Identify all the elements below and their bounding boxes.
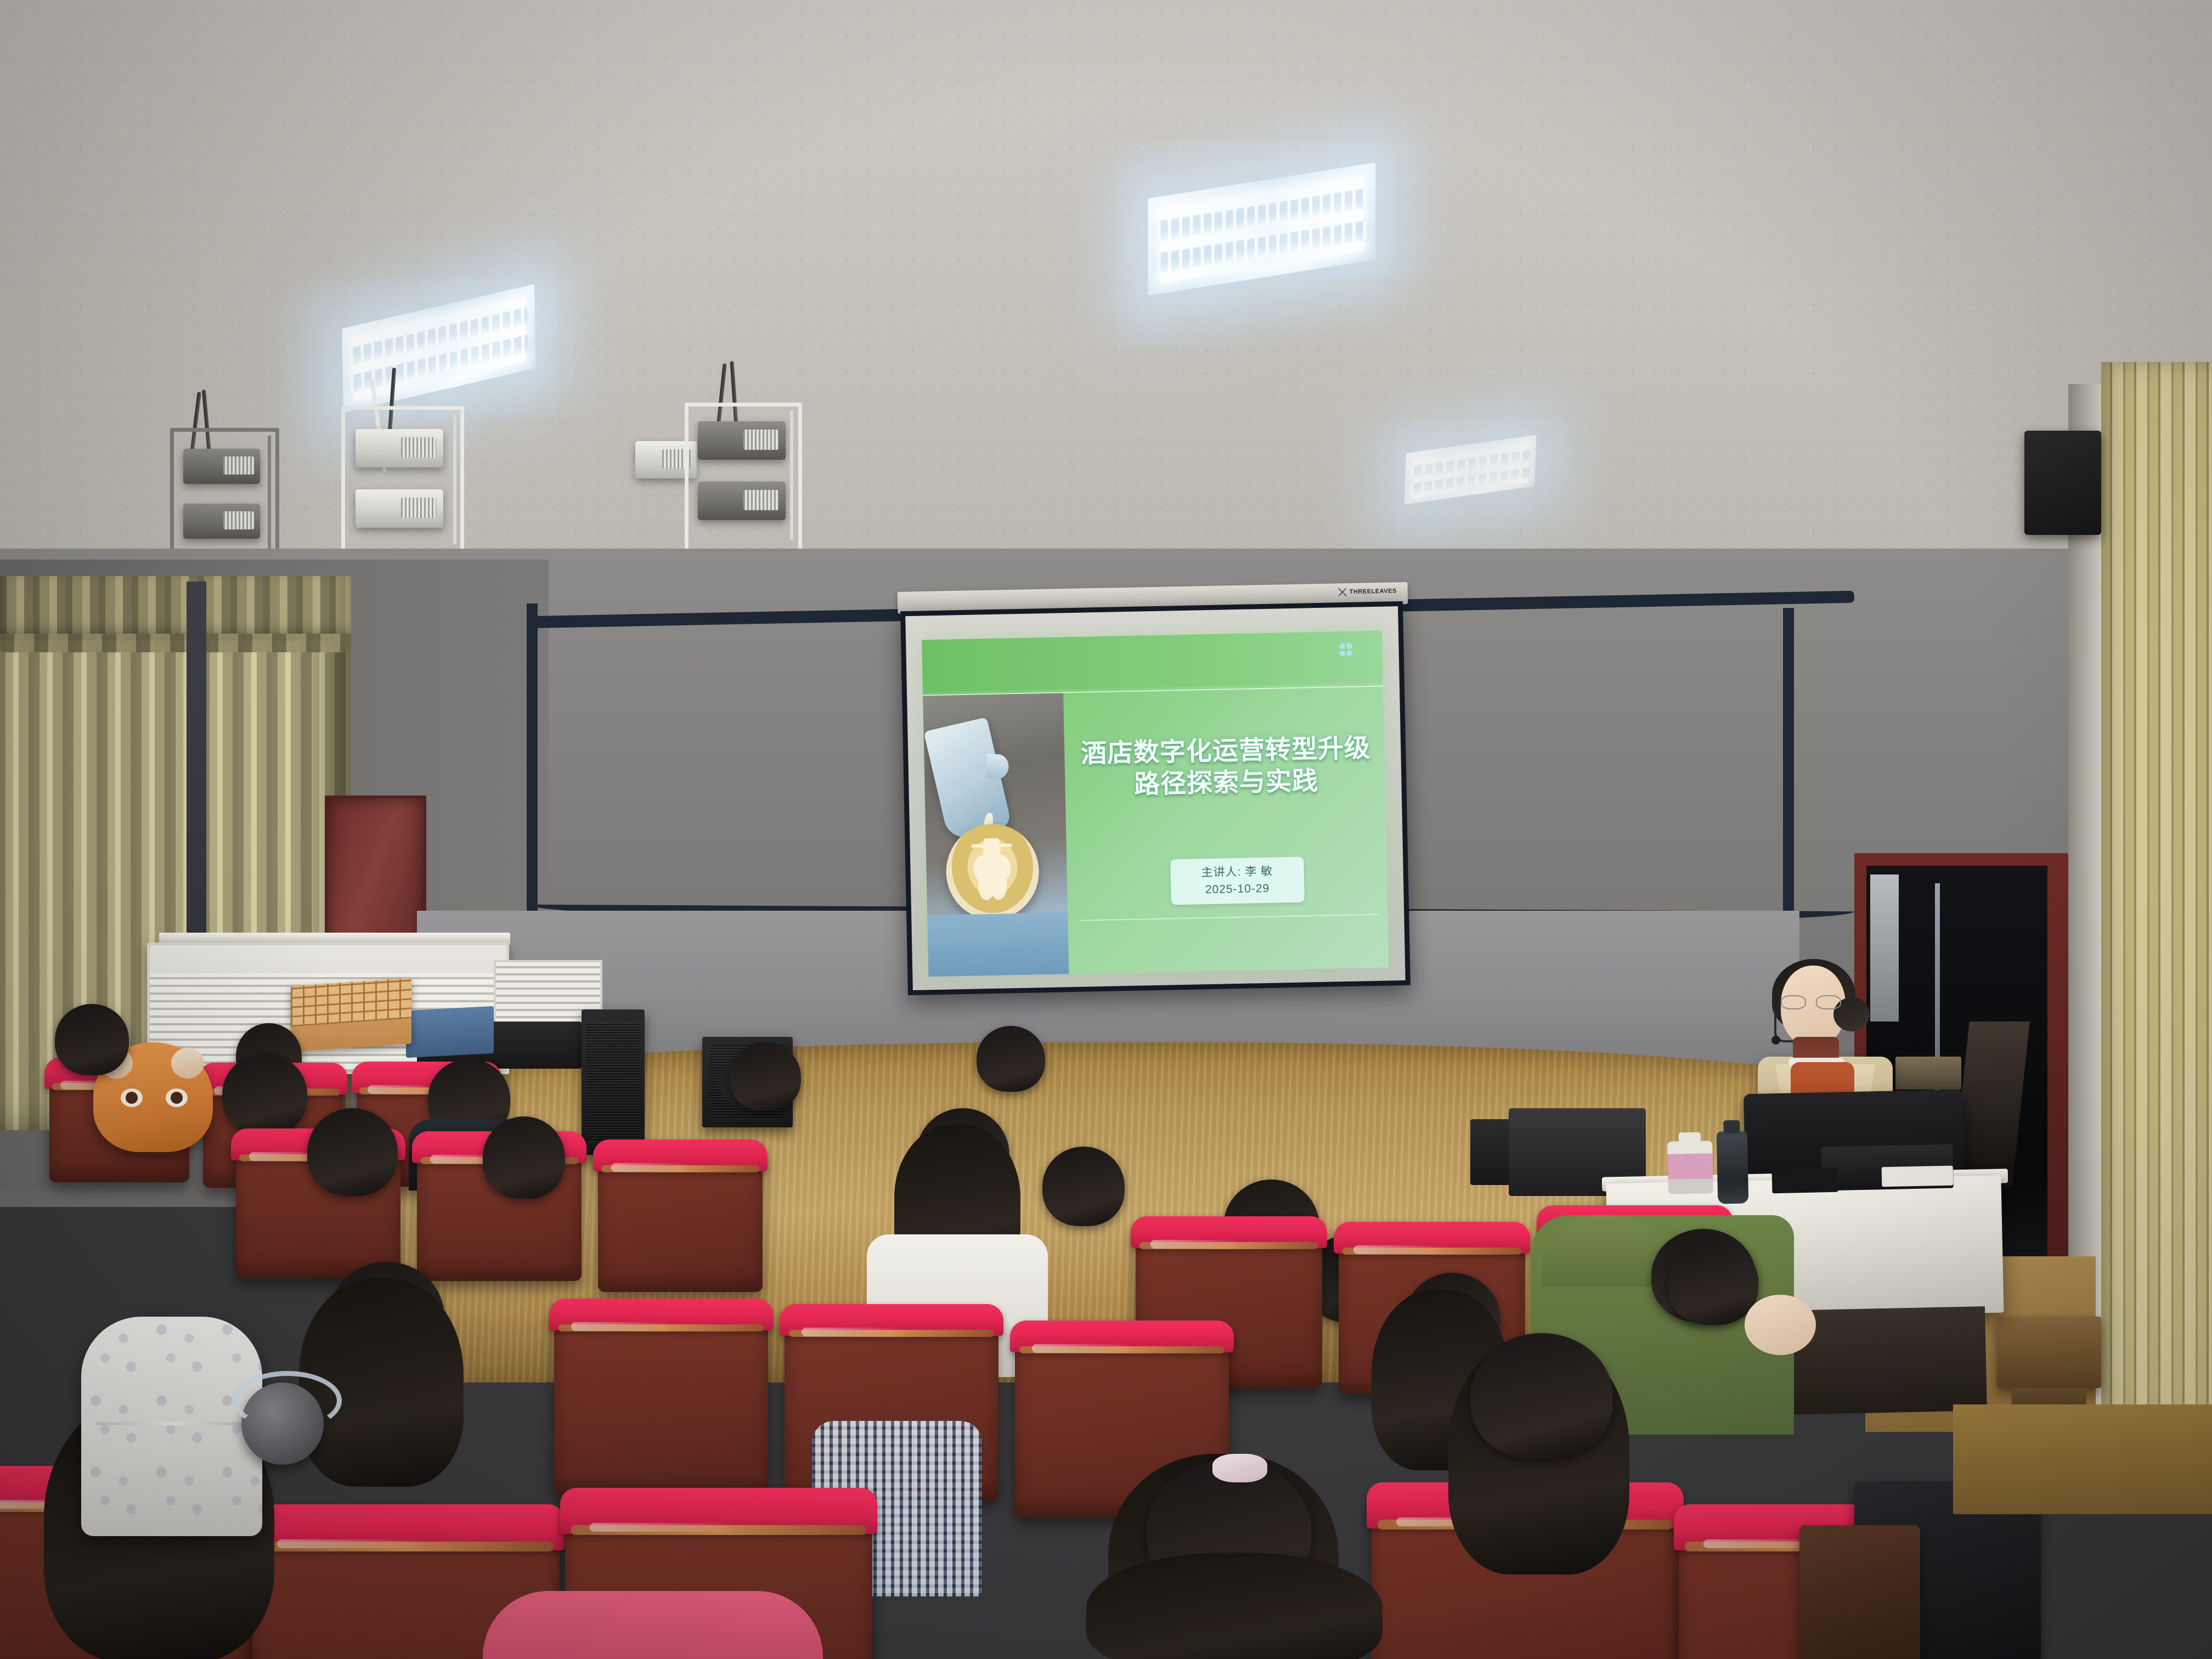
screen-brand-logo: THREELEAVES [1338, 587, 1397, 596]
attendee-head [222, 1053, 307, 1136]
milk-pitcher-shape [924, 718, 1012, 842]
wooden-stool [1997, 1317, 2101, 1388]
floor-aisle [1953, 1404, 2212, 1514]
slide-top-band [922, 631, 1383, 692]
proscenium-trim-left [527, 603, 538, 922]
table-row[interactable] [554, 1306, 768, 1495]
headset-microphone-icon [1774, 1012, 1795, 1042]
slide-title-line-2: 路径探索与实践 [1076, 764, 1376, 801]
slide-title: 酒店数字化运营转型升级 路径探索与实践 [1076, 732, 1376, 801]
slide-photo-latte-art [923, 693, 1069, 977]
slide-title-line-1: 酒店数字化运营转型升级 [1076, 732, 1376, 769]
attendee-head [307, 1108, 398, 1196]
four-petal-clover-logo-icon [1339, 643, 1352, 656]
desk-device-black [1772, 1168, 1838, 1194]
projection-screen-surface: 酒店数字化运营转型升级 路径探索与实践 主讲人: 李 敏 2025-10-29 [905, 606, 1406, 990]
brand-name-label: THREELEAVES [1350, 588, 1397, 595]
slide-speaker-label: 主讲人: 李 敏 [1173, 862, 1300, 882]
water-bottle-dark [1717, 1131, 1749, 1204]
attendee-head [55, 1004, 129, 1075]
table-row[interactable] [598, 1147, 763, 1292]
slide-speaker-box: 主讲人: 李 敏 2025-10-29 [1170, 856, 1305, 905]
attendee-head [483, 1116, 565, 1199]
right-slatted-wood-wall [2101, 362, 2212, 1481]
attendee-head [730, 1042, 801, 1111]
attendee-long-hair [1086, 1553, 1383, 1659]
attendee-head [1470, 1333, 1613, 1459]
attendee-head [1042, 1147, 1125, 1226]
desk-papers [1882, 1166, 1954, 1187]
presentation-slide: 酒店数字化运营转型升级 路径探索与实践 主讲人: 李 敏 2025-10-29 [922, 631, 1389, 977]
slide-date: 2025-10-29 [1174, 879, 1301, 899]
attendee-head [1668, 1240, 1758, 1325]
proscenium-trim-right [1783, 608, 1794, 915]
photo-lower-blue-area [927, 912, 1069, 977]
grey-plush-charm [241, 1383, 324, 1465]
wall-mounted-speaker [2024, 431, 2101, 535]
pink-tumbler-cup [1667, 1141, 1713, 1194]
wooden-lattice-box [291, 978, 411, 1052]
latte-cup-shape [945, 823, 1039, 920]
stage-speaker-tall-left [582, 1009, 645, 1155]
brown-leather-bag-on-floor [1799, 1525, 1920, 1659]
latte-art-leaf [971, 838, 1013, 905]
eyeglasses-icon [1781, 995, 1841, 1007]
projection-screen-frame: 酒店数字化运营转型升级 路径探索与实践 主讲人: 李 敏 2025-10-29 [900, 601, 1410, 995]
slide-baseline [1079, 914, 1379, 921]
lecture-hall-photo: THREELEAVES 酒店数字化运营转 [0, 0, 2212, 1659]
green-jacket-hand [1745, 1295, 1816, 1355]
brand-mark-icon [1338, 588, 1347, 596]
white-patterned-backpack [81, 1317, 262, 1536]
hair-clip [1212, 1454, 1267, 1482]
attendee-head [977, 1026, 1045, 1092]
blue-padded-item [406, 1006, 494, 1058]
attendee-shoulders [483, 1591, 823, 1659]
